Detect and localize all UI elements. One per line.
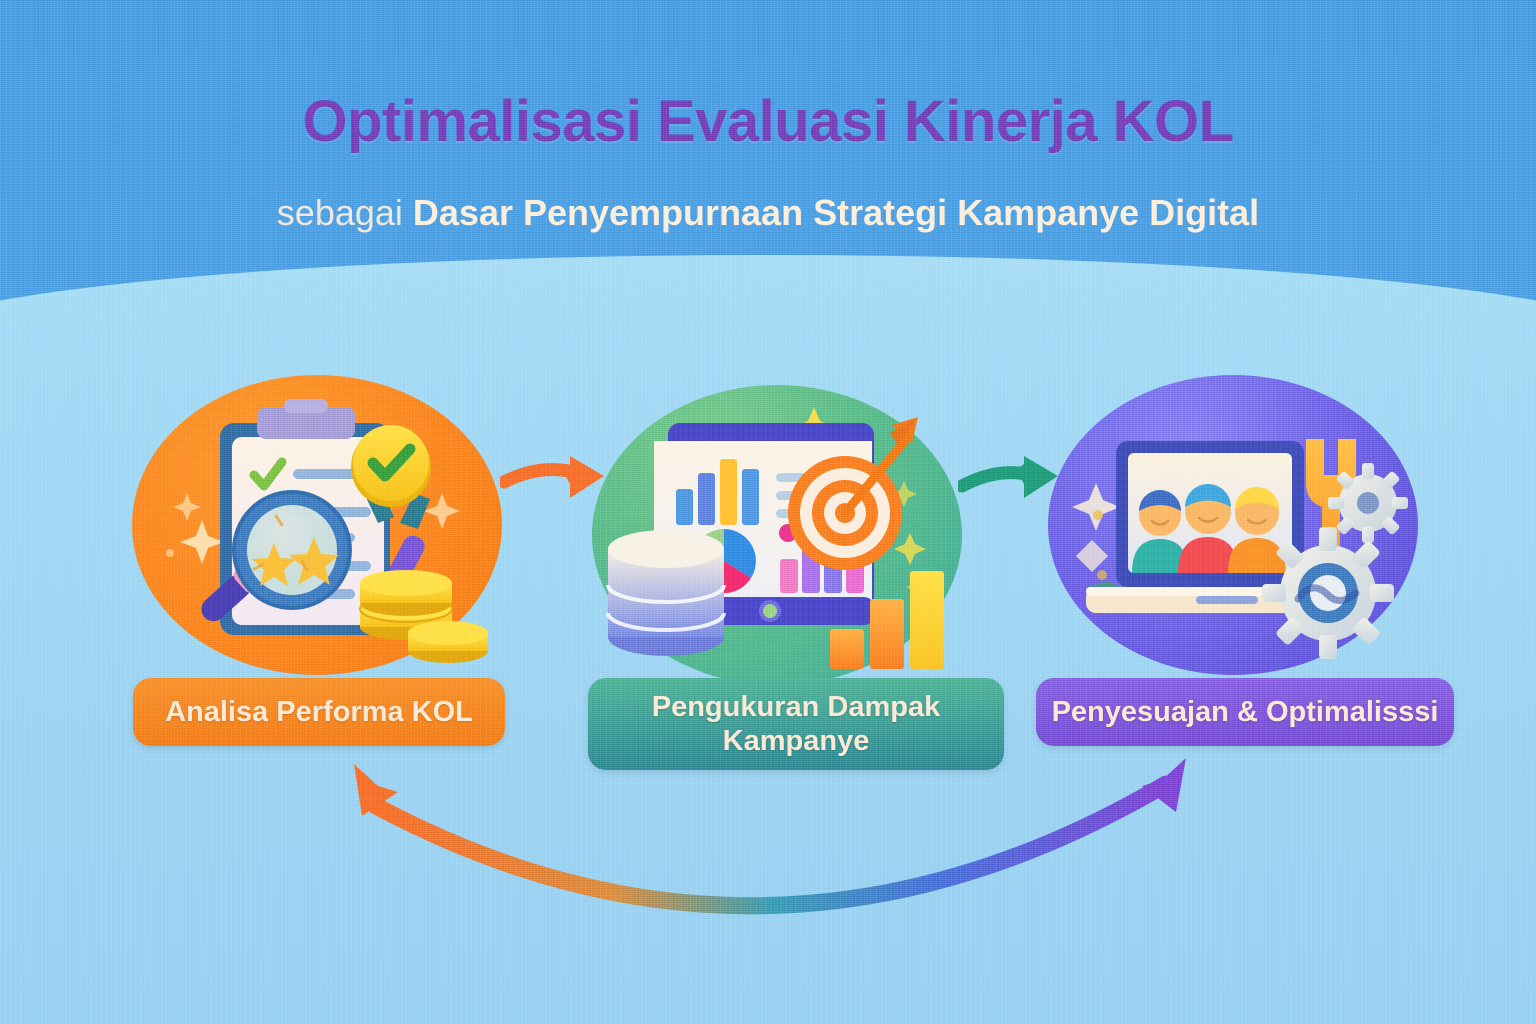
step-card-analisa-performa[interactable] bbox=[132, 375, 502, 695]
subtitle-strong-part: Dasar Penyempurnaan Strategi Kampanye Di… bbox=[413, 192, 1259, 233]
feedback-loop-arrow bbox=[330, 748, 1210, 943]
gear-icon bbox=[1262, 527, 1394, 659]
people-icon bbox=[1132, 484, 1286, 573]
gear-icon bbox=[1328, 463, 1408, 543]
step-1-label-pill[interactable]: Analisa Performa KOL bbox=[133, 678, 505, 746]
step-3-illustration bbox=[1048, 375, 1418, 695]
page-title: Optimalisasi Evaluasi Kinerja KOL bbox=[0, 88, 1536, 155]
database-icon bbox=[608, 530, 724, 656]
infographic-canvas: Optimalisasi Evaluasi Kinerja KOL sebaga… bbox=[0, 0, 1536, 1024]
step-3-label: Penyesuajan & Optimalisssi bbox=[1052, 695, 1439, 729]
coins-icon bbox=[360, 570, 488, 663]
step-2-illustration bbox=[592, 385, 962, 705]
step-1-illustration bbox=[132, 375, 502, 695]
page-subtitle: sebagai Dasar Penyempurnaan Strategi Kam… bbox=[0, 192, 1536, 234]
connector-1-2 bbox=[500, 452, 615, 519]
connector-2-3 bbox=[958, 452, 1068, 519]
subtitle-light-part: sebagai bbox=[277, 192, 413, 233]
step-1-label: Analisa Performa KOL bbox=[165, 695, 473, 729]
step-2-label-line1: Pengukuran Dampak bbox=[652, 691, 940, 723]
step-3-label-pill[interactable]: Penyesuajan & Optimalisssi bbox=[1036, 678, 1454, 746]
step-card-pengukuran-dampak[interactable] bbox=[592, 385, 962, 705]
step-card-penyesuaian-optimalisasi[interactable] bbox=[1048, 375, 1418, 695]
sparkle-icon bbox=[1072, 483, 1120, 580]
